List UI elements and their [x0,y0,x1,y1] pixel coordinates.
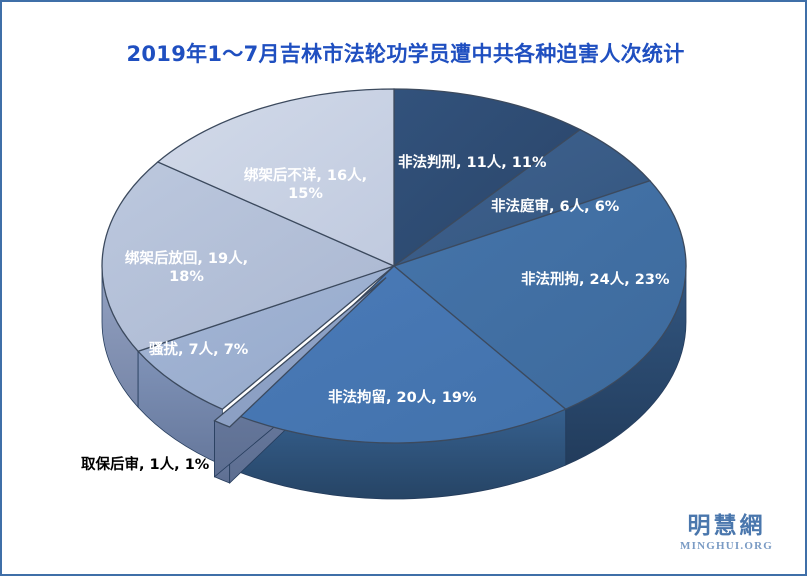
slice-label-text: 绑架后不详, 16人, [244,168,367,184]
slice-label-text: 绑架后放回, 19人, [125,251,248,267]
slice-label-fafa-panxing: 非法判刑, 11人, 11% [398,154,547,172]
slice-label-fafa-tingshen: 非法庭审, 6人, 6% [491,198,619,216]
watermark-cn-text: 明慧網 [680,514,773,539]
slice-label-text: 非法判刑, 11人, 11% [398,155,547,171]
slice-label-percent: 15% [288,186,323,202]
slice-label-fafa-juliu: 非法拘留, 20人, 19% [328,389,477,407]
slice-label-bangjia-fanghui: 绑架后放回, 19人, 18% [109,250,264,286]
slice-label-text: 非法庭审, 6人, 6% [491,199,619,215]
minghui-watermark: 明慧網 MINGHUI.ORG [680,514,773,552]
chart-canvas: 2019年1～7月吉林市法轮功学员遭中共各种迫害人次统计 [0,0,807,576]
slice-label-bangjia-buxiang: 绑架后不详, 16人, 15% [228,167,383,203]
pie-chart-svg [2,2,807,576]
slice-label-text: 取保后审, 1人, 1% [81,457,209,473]
slice-label-fafa-xingju: 非法刑拘, 24人, 23% [521,271,670,289]
slice-label-text: 非法刑拘, 24人, 23% [521,272,670,288]
slice-label-text: 骚扰, 7人, 7% [149,342,248,358]
slice-label-percent: 18% [169,269,204,285]
pie-chart: 非法判刑, 11人, 11% 非法庭审, 6人, 6% 非法刑拘, 24人, 2… [2,2,807,576]
slice-label-qubao-houshen: 取保后审, 1人, 1% [81,456,209,474]
slice-label-saorao: 骚扰, 7人, 7% [149,341,248,359]
watermark-en-text: MINGHUI.ORG [680,540,773,552]
slice-label-text: 非法拘留, 20人, 19% [328,390,477,406]
